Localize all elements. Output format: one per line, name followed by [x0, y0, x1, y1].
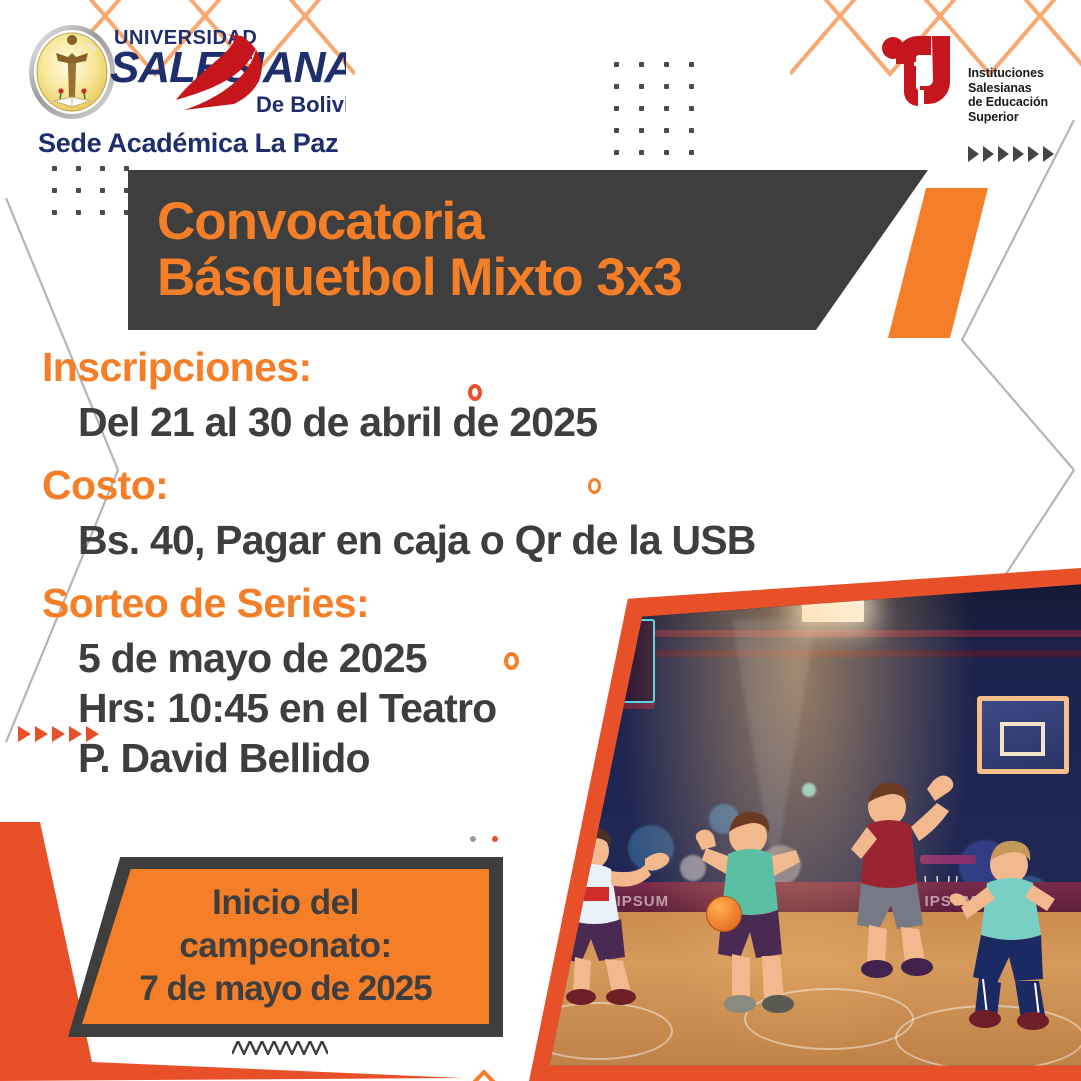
- label-costo: Costo:: [42, 463, 960, 509]
- value-inscripciones: Del 21 al 30 de abril de 2025: [78, 397, 960, 447]
- ius-text-line-4: Superior: [968, 110, 1048, 125]
- arrow-cluster-top-right: [968, 146, 1054, 162]
- basketball-hoop-icon: [977, 696, 1069, 774]
- ius-text-line-2: Salesianas: [968, 81, 1048, 96]
- value-costo: Bs. 40, Pagar en caja o Qr de la USB: [78, 515, 960, 565]
- label-inscripciones: Inscripciones:: [42, 345, 960, 391]
- university-wordmark: UNIVERSIDAD SALESIANA De Bolivia: [106, 24, 346, 126]
- title-banner: Convocatoria Básquetbol Mixto 3x3: [128, 170, 928, 330]
- player-1: [535, 799, 685, 1009]
- dot-pair-mid-left: [470, 836, 514, 854]
- title-accent-shape: [888, 188, 988, 338]
- ius-logo-text: Instituciones Salesianas de Educación Su…: [968, 66, 1048, 124]
- ius-text-line-1: Instituciones: [968, 66, 1048, 81]
- title-line-2: Básquetbol Mixto 3x3: [157, 250, 928, 306]
- ius-logo: Instituciones Salesianas de Educación Su…: [872, 30, 1062, 120]
- poster-canvas: UNIVERSIDAD SALESIANA De Bolivia Sede Ac…: [0, 0, 1081, 1081]
- start-line-2: campeonato:: [179, 925, 391, 968]
- campus-label: Sede Académica La Paz: [38, 128, 338, 159]
- start-line-1: Inicio del: [212, 882, 359, 925]
- ius-monogram-icon: [872, 30, 964, 116]
- dot-grid-top-center: [614, 62, 714, 172]
- zigzag-decoration: [232, 1041, 328, 1055]
- ius-text-line-3: de Educación: [968, 95, 1048, 110]
- player-4: [947, 825, 1081, 1030]
- title-line-1: Convocatoria: [157, 194, 928, 250]
- start-date-box: Inicio del campeonato: 7 de mayo de 2025: [68, 857, 503, 1037]
- salesian-emblem-icon: [26, 23, 118, 121]
- wordmark-de-bolivia: De Bolivia: [256, 92, 346, 117]
- university-logo: UNIVERSIDAD SALESIANA De Bolivia Sede Ac…: [18, 20, 348, 155]
- start-line-3: 7 de mayo de 2025: [139, 968, 431, 1011]
